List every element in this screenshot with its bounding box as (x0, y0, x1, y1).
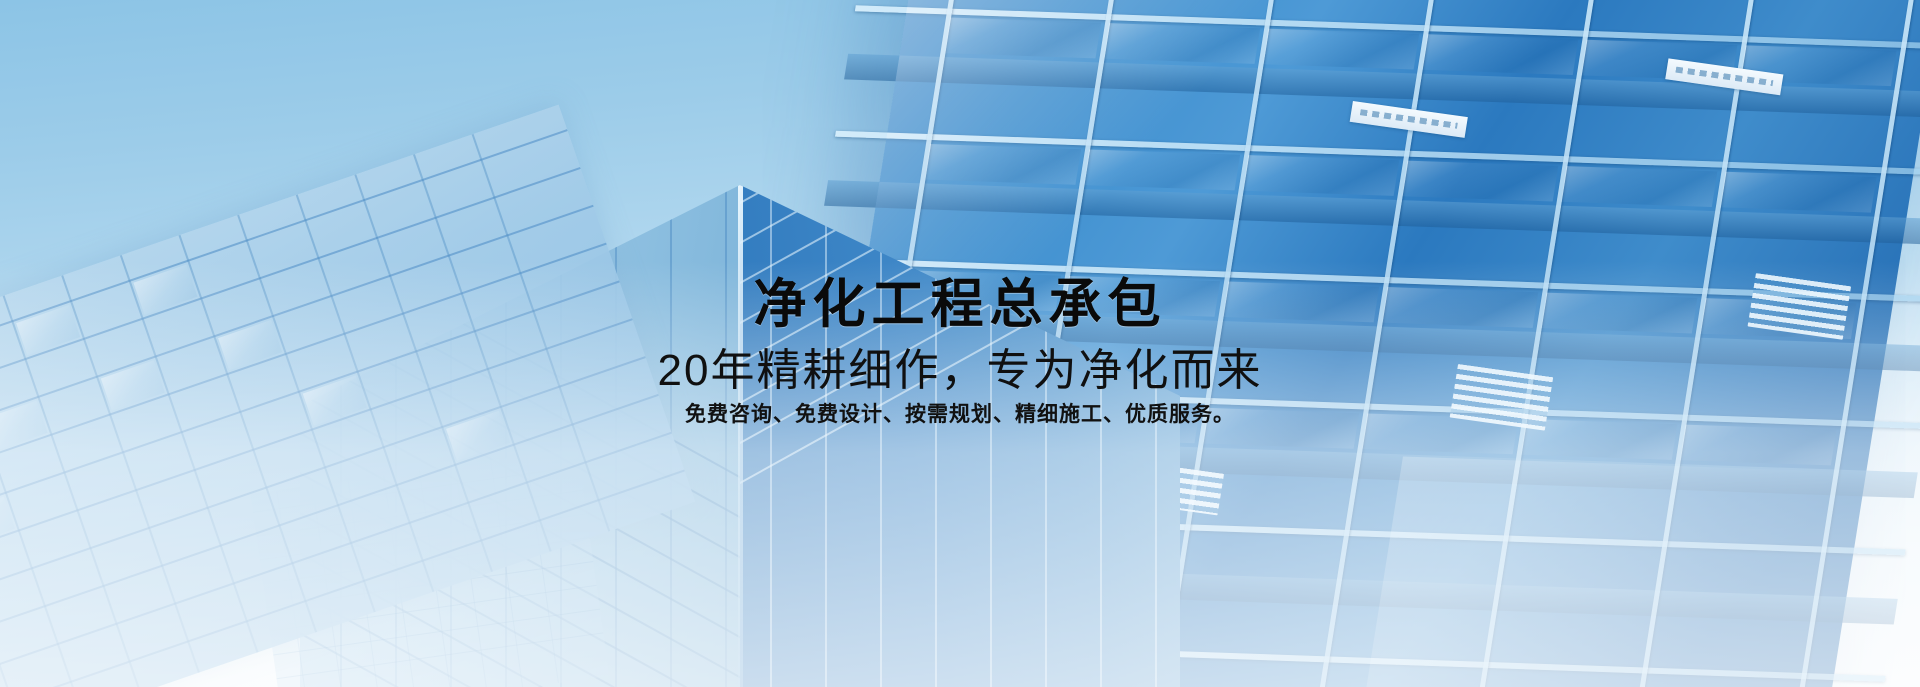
hero-banner: 净化工程总承包 20年精耕细作，专为净化而来 免费咨询、免费设计、按需规划、精细… (0, 0, 1920, 687)
building-ridge (738, 185, 743, 687)
